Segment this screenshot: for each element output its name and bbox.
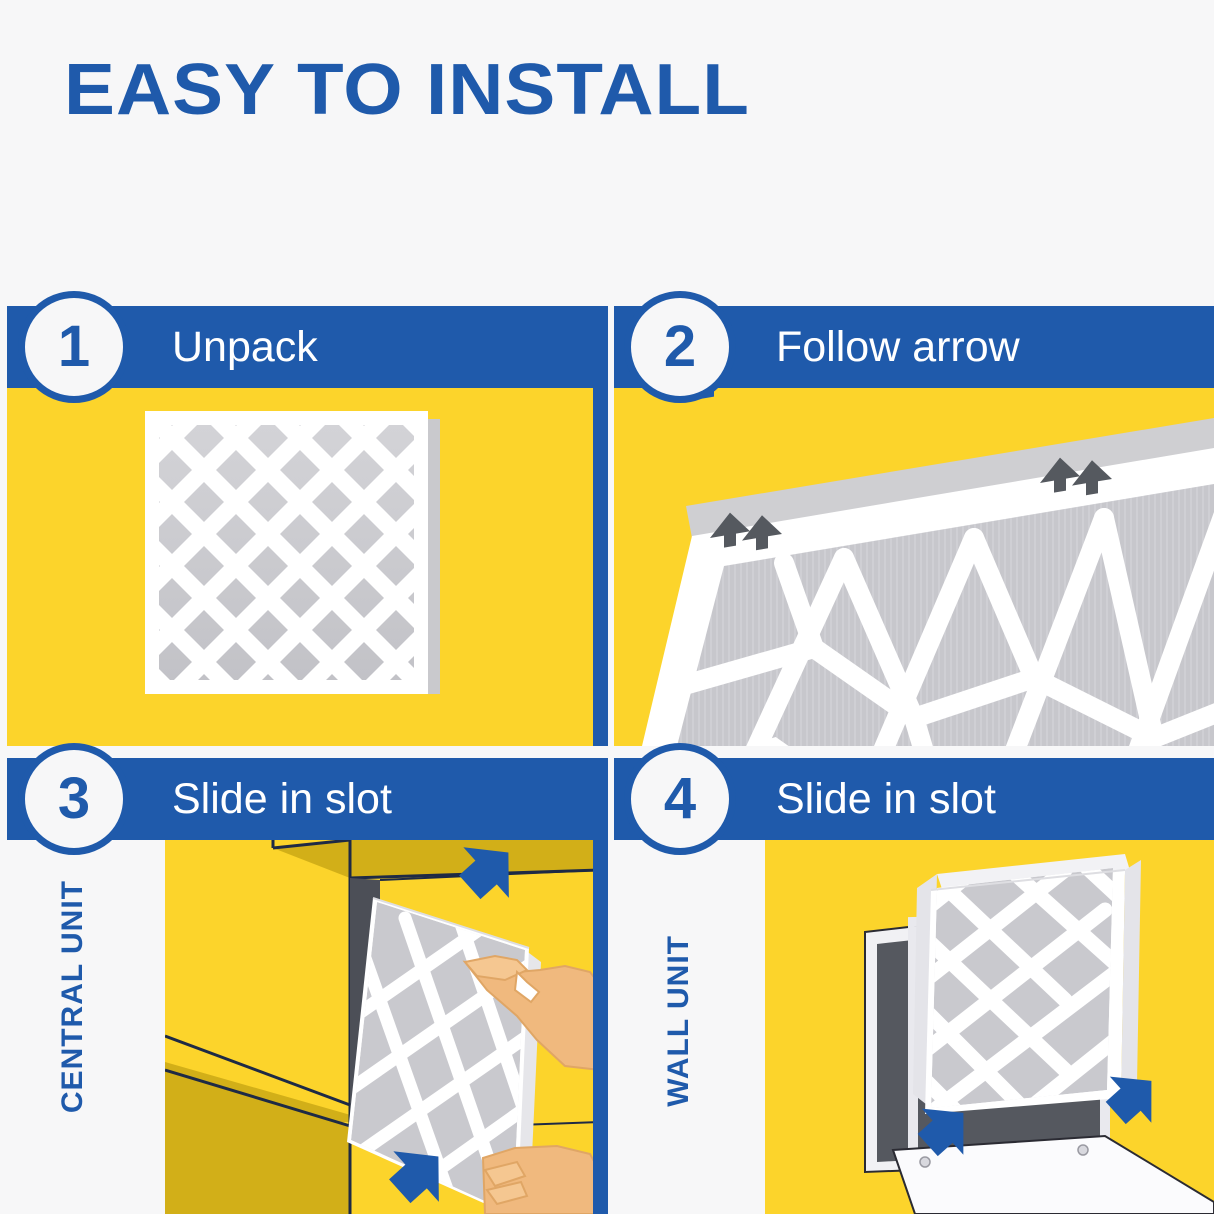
step-3-side-label: CENTRAL UNIT xyxy=(56,880,90,1113)
step-1-illustration xyxy=(7,388,593,746)
step-3-illustration xyxy=(165,840,600,1214)
step-4-number-badge: 4 xyxy=(624,743,736,855)
step-2-illustration xyxy=(614,388,1214,746)
step-2-number: 2 xyxy=(664,318,696,376)
page-title: EASY TO INSTALL xyxy=(64,54,750,126)
step-4-number: 4 xyxy=(664,770,696,828)
step-4-label: Slide in slot xyxy=(776,775,996,824)
air-filter-icon xyxy=(145,411,440,694)
step-2-label: Follow arrow xyxy=(776,323,1020,372)
airflow-arrow-blue-icon xyxy=(634,388,1194,486)
step-1-number-badge: 1 xyxy=(18,291,130,403)
step-2-number-badge: 2 xyxy=(624,291,736,403)
hands-icon xyxy=(483,1146,600,1214)
step-3-number: 3 xyxy=(58,770,90,828)
step-4-illustration xyxy=(765,840,1214,1214)
panel-3-right-edge xyxy=(593,840,608,1214)
step-3-label: Slide in slot xyxy=(172,775,392,824)
step-1-number: 1 xyxy=(58,318,90,376)
step-3-number-badge: 3 xyxy=(18,743,130,855)
step-1-label: Unpack xyxy=(172,323,318,372)
step-4-side-label: WALL UNIT xyxy=(662,935,696,1107)
